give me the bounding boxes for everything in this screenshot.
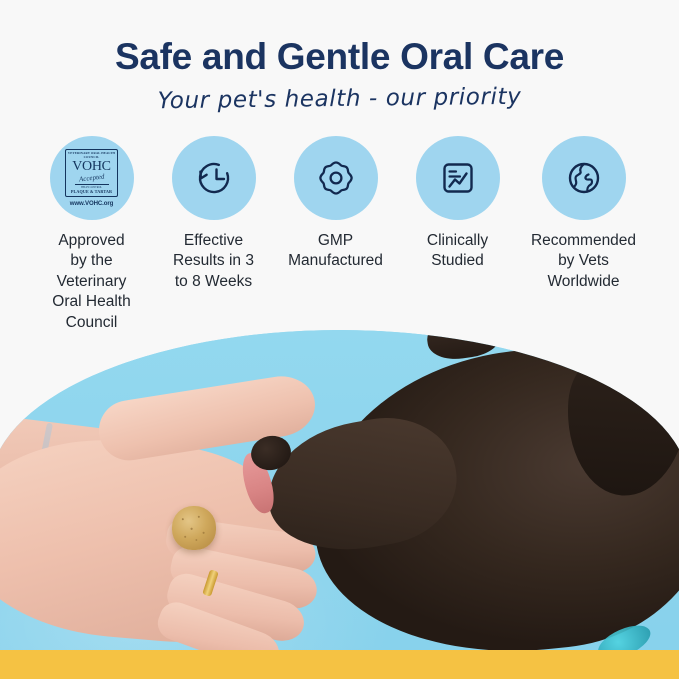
product-infographic: Safe and Gentle Oral Care Your pet's hea… (0, 0, 679, 679)
badge-circle (294, 136, 378, 220)
photo-arch-mask (0, 330, 679, 650)
gear-icon (313, 155, 359, 201)
vohc-seal-claim: PLAQUE & TARTAR (71, 189, 112, 194)
dog-ear (562, 342, 679, 500)
badge-effective-results: Effective Results in 3 to 8 Weeks (153, 136, 275, 292)
badge-circle: VETERINARY ORAL HEALTH COUNCIL VOHC Acce… (50, 136, 134, 220)
badge-gmp-manufactured: GMP Manufactured (275, 136, 397, 272)
vohc-seal-acronym: VOHC (72, 160, 110, 174)
vohc-seal-url: www.VOHC.org (70, 200, 114, 207)
badge-caption: Recommended by Vets Worldwide (531, 231, 636, 292)
badge-vohc-approved: VETERINARY ORAL HEALTH COUNCIL VOHC Acce… (31, 136, 153, 333)
header: Safe and Gentle Oral Care Your pet's hea… (0, 0, 679, 112)
badge-caption: Clinically Studied (427, 231, 488, 272)
feature-badges: VETERINARY ORAL HEALTH COUNCIL VOHC Acce… (0, 136, 679, 333)
dental-chew-treat (172, 506, 216, 550)
vohc-seal-accepted: Accepted (78, 173, 104, 184)
bottom-accent-bar (0, 650, 679, 679)
globe-icon (561, 155, 607, 201)
clock-history-icon (191, 155, 237, 201)
badge-caption: Approved by the Veterinary Oral Health C… (52, 231, 130, 333)
badge-caption: GMP Manufactured (288, 231, 383, 272)
vohc-seal-icon: VETERINARY ORAL HEALTH COUNCIL VOHC Acce… (64, 144, 120, 212)
lifestyle-photo (0, 330, 679, 650)
badge-caption: Effective Results in 3 to 8 Weeks (173, 231, 254, 292)
page-subtitle: Your pet's health - our priority (0, 73, 679, 116)
badge-circle (416, 136, 500, 220)
badge-clinically-studied: Clinically Studied (397, 136, 519, 272)
badge-circle (542, 136, 626, 220)
badge-circle (172, 136, 256, 220)
badge-recommended-by-vets: Recommended by Vets Worldwide (519, 136, 649, 292)
page-title: Safe and Gentle Oral Care (0, 0, 679, 77)
chart-report-icon (435, 155, 481, 201)
